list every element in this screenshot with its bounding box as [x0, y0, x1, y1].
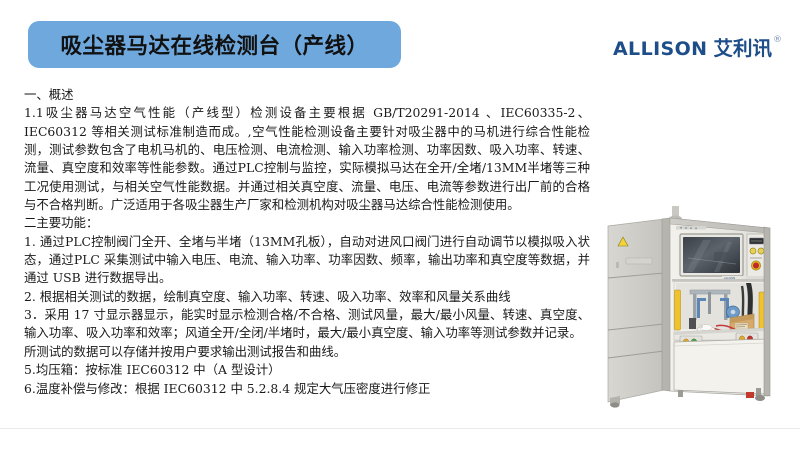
feature-item: 6.温度补偿与修改：根据 IEC60312 中 5.2.8.4 规定大气压密度进… — [24, 380, 590, 398]
section-1-heading: 一、概述 — [24, 86, 590, 104]
feature-item: 2. 根据相关测试的数据，绘制真空度、输入功率、转速、吸入功率、效率和风量关系曲… — [24, 288, 590, 306]
document-body: 一、概述 1.1吸尘器马达空气性能（产线型）检测设备主要根据 GB/T20291… — [24, 86, 590, 398]
slide-title-banner: 吸尘器马达在线检测台（产线） — [28, 21, 401, 68]
test-bench-illustration: ALLISON — [596, 206, 796, 418]
registered-trademark-icon: ® — [773, 35, 782, 45]
footer-divider — [0, 428, 800, 429]
machine-photo: ALLISON — [596, 206, 796, 418]
overview-paragraph: 1.1吸尘器马达空气性能（产线型）检测设备主要根据 GB/T20291-2014… — [24, 104, 590, 214]
feature-item: 5.均压箱：按标准 IEC60312 中（A 型设计） — [24, 361, 590, 379]
feature-item: 所测试的数据可以存储并按用户要求输出测试报告和曲线。 — [24, 343, 590, 361]
company-logo: ALLISON 艾利讯 ® — [613, 38, 782, 64]
logo-cjk-text: 艾利讯 — [713, 38, 772, 60]
logo-latin-text: ALLISON — [613, 38, 708, 60]
feature-item: 1. 通过PLC控制阀门全开、全堵与半堵（13MM孔板），自动对进风口阀门进行自… — [24, 233, 590, 288]
page-title: 吸尘器马达在线检测台（产线） — [60, 29, 368, 60]
feature-item: 3．采用 17 寸显示器显示，能实时显示检测合格/不合格、测试风量，最大/最小风… — [24, 306, 590, 343]
section-2-heading: 二主要功能： — [24, 214, 590, 232]
